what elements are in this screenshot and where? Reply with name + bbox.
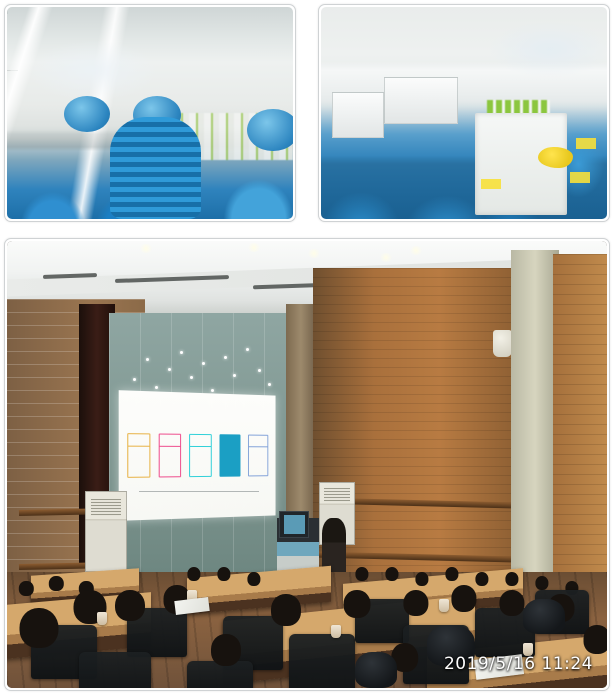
- head: [343, 590, 370, 618]
- office-chair: [289, 634, 355, 688]
- backpack: [355, 652, 397, 688]
- gowned-trainee-head: [247, 109, 293, 151]
- upright-freezer: [384, 77, 458, 124]
- head: [247, 572, 260, 586]
- photo-lab-briefing-image: [7, 7, 293, 219]
- photo-lab-demo-image: [321, 7, 607, 219]
- sticky-note: [481, 179, 501, 190]
- photo-lecture-hall-image: 2019/5/16 11:24: [7, 241, 607, 688]
- head: [505, 572, 518, 586]
- head: [49, 576, 63, 591]
- head: [403, 590, 428, 616]
- backpack: [523, 599, 565, 635]
- head: [217, 567, 230, 581]
- head: [19, 608, 58, 649]
- head: [271, 594, 301, 626]
- head: [445, 567, 458, 581]
- office-chair: [79, 652, 151, 688]
- photo-lecture-hall[interactable]: 2019/5/16 11:24: [4, 238, 610, 691]
- paper-cup: [439, 599, 449, 612]
- head: [415, 572, 428, 586]
- head: [211, 634, 241, 666]
- sticky-note: [576, 138, 596, 149]
- photo-lab-briefing[interactable]: [4, 4, 296, 222]
- photo-lab-demo[interactable]: [318, 4, 610, 222]
- audience-seating-area: [7, 241, 607, 688]
- head: [385, 567, 398, 581]
- head: [19, 581, 33, 596]
- gowned-trainee-head: [64, 96, 110, 132]
- head: [475, 572, 488, 586]
- head: [355, 567, 368, 581]
- striped-gown-trainee: [110, 117, 202, 219]
- upright-freezer: [332, 92, 383, 139]
- head: [451, 585, 476, 611]
- paper-cup: [331, 625, 341, 638]
- biohazard-bag: [538, 147, 572, 168]
- head: [583, 625, 607, 653]
- ceiling-grid: [7, 7, 293, 71]
- head: [115, 590, 145, 622]
- photo-collage: 2019/5/16 11:24: [0, 0, 614, 695]
- head: [535, 576, 548, 590]
- head: [499, 590, 524, 616]
- paper-cup: [97, 612, 107, 625]
- head: [187, 567, 200, 581]
- sticky-note: [570, 172, 590, 183]
- photo-timestamp: 2019/5/16 11:24: [444, 654, 593, 674]
